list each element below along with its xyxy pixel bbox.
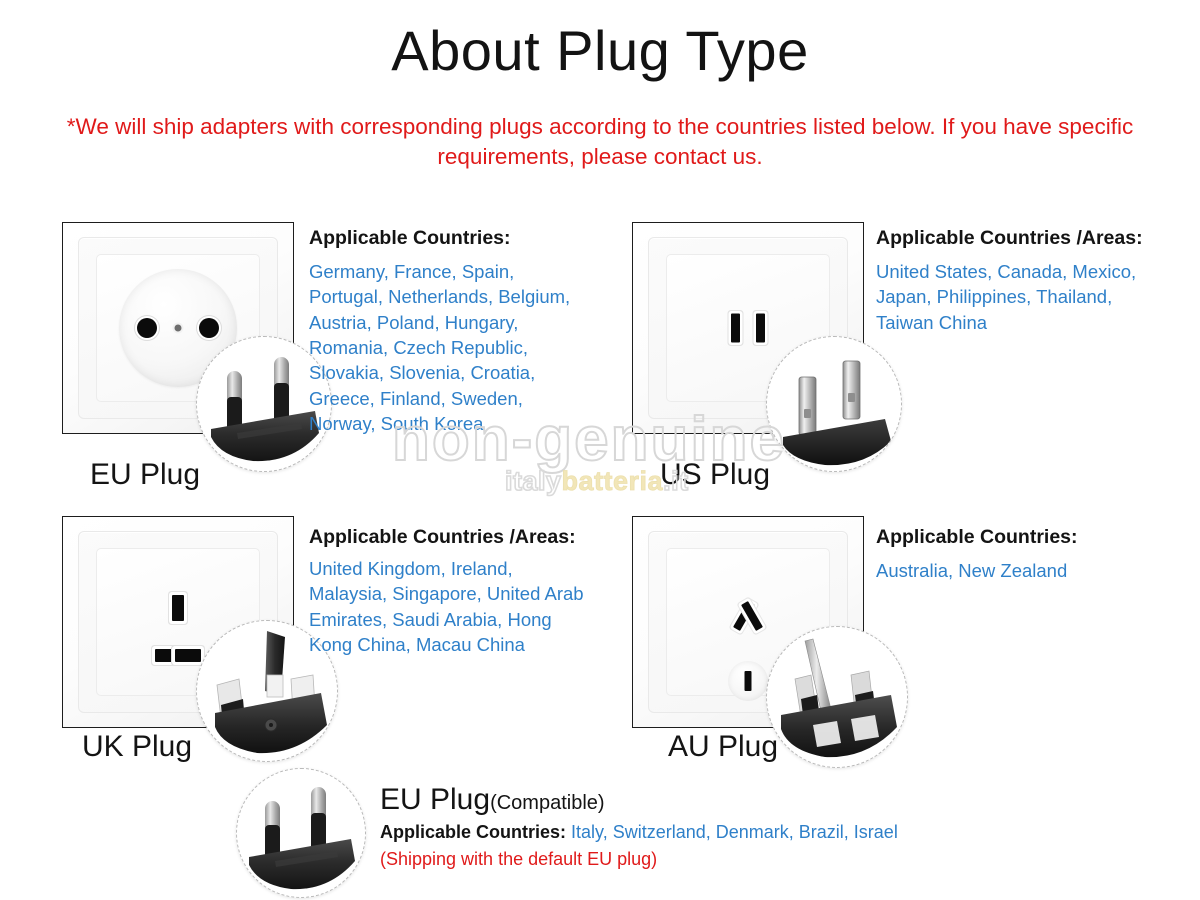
au-countries-heading: Applicable Countries:: [876, 526, 1078, 549]
uk-live-slot-right: [175, 649, 201, 662]
uk-countries-heading: Applicable Countries /Areas:: [309, 526, 576, 549]
compatible-countries-list: Italy, Switzerland, Denmark, Brazil, Isr…: [571, 822, 898, 842]
us-countries-list: United States, Canada, Mexico, Japan, Ph…: [876, 259, 1156, 335]
eu-countries-heading: Applicable Countries:: [309, 227, 511, 250]
us-slot-left: [731, 314, 740, 343]
eu-pin-hole-right: [199, 318, 219, 338]
plug-label-eu: EU Plug: [90, 458, 200, 492]
au-plug-drawing: [767, 627, 907, 767]
us-countries-heading: Applicable Countries /Areas:: [876, 227, 1143, 250]
compatible-plug-title-suffix: (Compatible): [490, 792, 604, 814]
eu-countries-list: Germany, France, Spain, Portugal, Nether…: [309, 259, 581, 436]
compatible-plug-title-main: EU Plug: [380, 783, 490, 816]
eu-compatible-plug-drawing: [237, 769, 365, 897]
uk-earth-slot: [172, 595, 184, 621]
uk-countries-list: United Kingdom, Ireland, Malaysia, Singa…: [309, 556, 584, 657]
au-plug-icon: [766, 626, 908, 768]
eu-pin-hole-left: [137, 318, 157, 338]
watermark-site-part1: italy: [505, 466, 562, 496]
plug-label-us: US Plug: [660, 458, 770, 492]
compatible-countries-label: Applicable Countries:: [380, 822, 566, 842]
compatible-countries-line: Applicable Countries: Italy, Switzerland…: [380, 822, 898, 843]
au-earth-recess: [728, 661, 768, 701]
eu-compatible-plug-icon: [236, 768, 366, 898]
us-plug-drawing: [767, 337, 901, 471]
compatible-plug-title: EU Plug(Compatible): [380, 783, 605, 817]
compatible-shipping-note: (Shipping with the default EU plug): [380, 849, 657, 870]
watermark-site-part2: batteria: [562, 466, 664, 496]
shipping-note: *We will ship adapters with correspondin…: [60, 112, 1140, 171]
us-slot-right: [756, 314, 765, 343]
eu-center-dot: [175, 325, 182, 332]
au-countries-list: Australia, New Zealand: [876, 558, 1166, 583]
page-title: About Plug Type: [0, 22, 1200, 81]
au-earth-slot: [745, 671, 752, 691]
plug-label-au: AU Plug: [668, 730, 778, 764]
plug-label-uk: UK Plug: [82, 730, 192, 764]
us-plug-icon: [766, 336, 902, 472]
